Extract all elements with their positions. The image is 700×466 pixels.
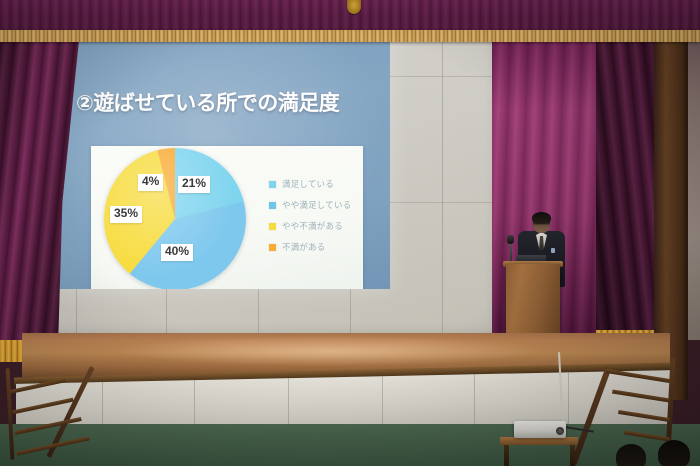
chart-legend: 満足している やや満足している やや不満がある 不満がある (269, 178, 351, 262)
projected-slide: ②遊ばせている所での満足度 21% 40% 35% 4% 満足している やや満足… (60, 27, 390, 289)
pie-graphic: 21% 40% 35% 4% (104, 148, 246, 289)
projector-table (500, 437, 578, 445)
legend-swatch-icon (269, 181, 276, 188)
legend-label: やや満足している (282, 199, 351, 211)
projector-lens-icon (556, 427, 564, 435)
audience-head (658, 440, 690, 466)
legend-label: 満足している (282, 178, 334, 190)
audience-head (616, 444, 646, 466)
presentation-photo: ②遊ばせている所での満足度 21% 40% 35% 4% 満足している やや満足… (0, 0, 700, 466)
legend-swatch-icon (269, 223, 276, 230)
valance-gold-fringe (0, 30, 700, 42)
legend-swatch-icon (269, 202, 276, 209)
legend-item-0: 満足している (269, 178, 351, 190)
legend-label: やや不満がある (282, 220, 343, 232)
pie-chart: 21% 40% 35% 4% 満足している やや満足している やや不満がある (91, 146, 363, 289)
stage-stairs-left (4, 366, 154, 466)
microphone-icon (507, 235, 514, 244)
presenter-badge (551, 248, 555, 253)
pie-label-35: 35% (110, 206, 142, 223)
legend-item-1: やや満足している (269, 199, 351, 211)
legend-swatch-icon (269, 244, 276, 251)
slide-title: ②遊ばせている所での満足度 (76, 87, 339, 117)
pie-label-21: 21% (178, 176, 210, 193)
presenter-hair (532, 212, 551, 224)
legend-item-2: やや不満がある (269, 220, 351, 232)
legend-item-3: 不満がある (269, 241, 351, 253)
pie-label-4: 4% (138, 174, 163, 191)
stage-valance-curtain (0, 0, 700, 34)
curtain-ornament-icon (347, 0, 361, 14)
wooden-podium (506, 264, 560, 340)
pie-label-40: 40% (161, 244, 193, 261)
legend-label: 不満がある (282, 241, 326, 253)
